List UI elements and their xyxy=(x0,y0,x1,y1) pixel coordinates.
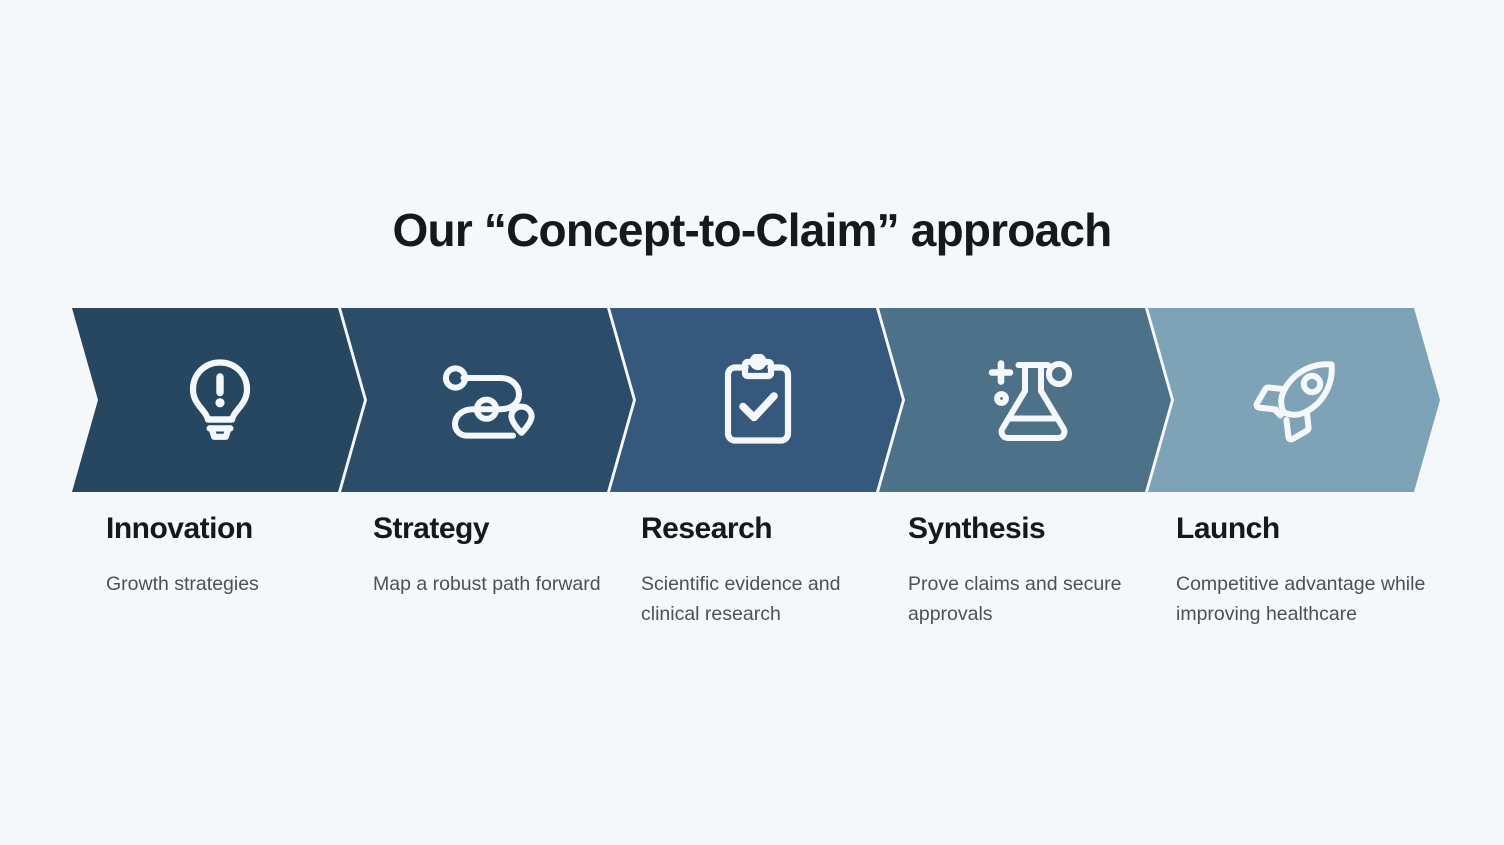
stage-chevron-synthesis[interactable] xyxy=(879,308,1171,492)
lightbulb-exclamation-icon xyxy=(178,356,262,444)
stage-title-synthesis: Synthesis xyxy=(908,512,1128,547)
stage-caption-strategy: Strategy Map a robust path forward xyxy=(373,512,603,599)
stage-caption-launch: Launch Competitive advantage while impro… xyxy=(1176,512,1431,629)
process-chevron-band xyxy=(72,308,1432,492)
stage-desc-research: Scientific evidence and clinical researc… xyxy=(641,569,886,630)
stage-caption-synthesis: Synthesis Prove claims and secure approv… xyxy=(908,512,1128,629)
stage-desc-strategy: Map a robust path forward xyxy=(373,569,603,599)
stage-chevron-innovation[interactable] xyxy=(72,308,364,492)
route-path-pin-icon xyxy=(441,356,537,444)
flask-bubbles-icon xyxy=(980,353,1074,447)
stage-title-research: Research xyxy=(641,512,886,547)
clipboard-check-icon xyxy=(717,354,799,446)
stage-chevron-launch[interactable] xyxy=(1148,308,1440,492)
stage-chevron-strategy[interactable] xyxy=(341,308,633,492)
stage-desc-innovation: Growth strategies xyxy=(106,569,356,599)
stage-title-innovation: Innovation xyxy=(106,512,356,547)
stage-title-launch: Launch xyxy=(1176,512,1431,547)
stage-chevron-research[interactable] xyxy=(610,308,902,492)
stage-desc-launch: Competitive advantage while improving he… xyxy=(1176,569,1431,630)
stage-desc-synthesis: Prove claims and secure approvals xyxy=(908,569,1128,630)
stage-title-strategy: Strategy xyxy=(373,512,603,547)
stage-caption-research: Research Scientific evidence and clinica… xyxy=(641,512,886,629)
page-title: Our “Concept-to-Claim” approach xyxy=(0,205,1504,256)
rocket-icon xyxy=(1250,354,1342,446)
stage-caption-innovation: Innovation Growth strategies xyxy=(106,512,356,599)
stage-captions: Innovation Growth strategies Strategy Ma… xyxy=(72,512,1472,712)
